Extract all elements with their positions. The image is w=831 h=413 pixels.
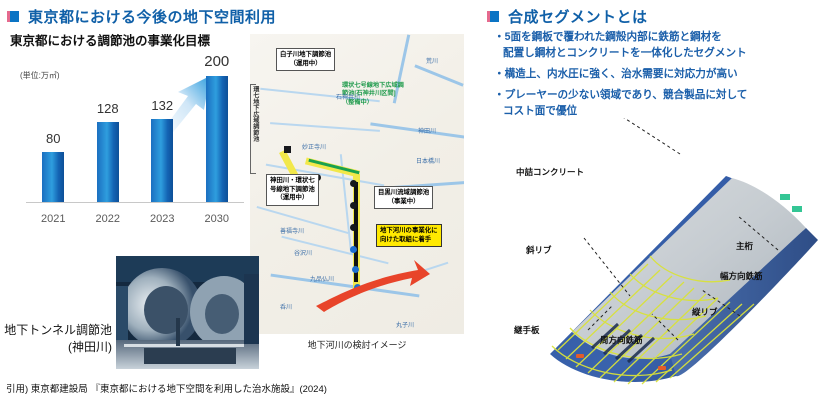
right-panel: 合成セグメントとは ・5面を鋼板で覆われた鋼殻内部に鉄筋と鋼材を 配置し鋼材とコ… [480, 0, 831, 408]
map-label-meguro: 目黒川流域調節池 （事業中） [374, 186, 433, 209]
river-text-myoshoji: 妙正寺川 [302, 142, 326, 151]
bar-2023 [151, 119, 173, 202]
segment-label-habakata: 幅方向鉄筋 [720, 270, 763, 282]
x-label-2030: 2030 [190, 213, 245, 225]
chart-axis-line [26, 202, 244, 203]
left-heading: 東京都における今後の地下空間利用 [8, 6, 276, 27]
river-text-arakawa: 荒川 [426, 56, 438, 65]
bullet-list: ・5面を鋼板で覆われた鋼殻内部に鉄筋と鋼材を 配置し鋼材とコンクリートを一体化し… [494, 30, 830, 124]
river-text-kuhonbutsu: 九品仏川 [310, 274, 334, 283]
x-label-2023: 2023 [135, 213, 190, 225]
photo-caption-line1: 地下トンネル調節池 [0, 322, 112, 339]
bar-slot-2022: 128 [81, 60, 136, 202]
river-text-shakujii: 石神井川 [336, 92, 360, 101]
bar-2021 [42, 152, 64, 202]
river-text-nomi: 丸子川 [396, 320, 414, 329]
chart-x-labels: 2021 2022 2023 2030 [26, 213, 244, 225]
map-label-yellow-note: 地下河川の事業化に 向けた取組に着手 [376, 224, 442, 247]
square-bullet-icon [8, 11, 19, 22]
x-label-2021: 2021 [26, 213, 81, 225]
right-heading: 合成セグメントとは [488, 6, 648, 27]
bar-2022 [97, 122, 119, 202]
bar-2030 [206, 76, 228, 202]
bar-value-2023: 132 [151, 98, 173, 113]
map-node-3 [350, 202, 357, 209]
segment-label-shuketa: 主桁 [736, 240, 753, 252]
map-label-vertical-bracket: 環七地下広域調節池 [251, 86, 258, 172]
map-node-2 [350, 180, 357, 187]
map-node-shirakogawa [284, 146, 291, 153]
bullet-1-line-1: ・5面を鋼板で覆われた鋼殻内部に鉄筋と鋼材を [494, 30, 830, 46]
bar-slot-2030: 200 [190, 60, 245, 202]
segment-label-tatederib: 縦リブ [692, 306, 718, 318]
river-text-zenpukuji: 善福寺川 [280, 226, 304, 235]
bullet-2-line-1: ・構造上、内水圧に強く、治水需要に対応力が高い [494, 67, 830, 83]
river-text-kandagawa: 神田川 [418, 126, 436, 135]
chart-title: 東京都における調節池の事業化目標 [10, 30, 210, 49]
photo-caption: 地下トンネル調節池 (神田川) [0, 322, 112, 357]
bar-value-2022: 128 [97, 101, 119, 116]
segment-3d-svg [480, 118, 831, 408]
river-text-nihonbashi: 日本橋川 [416, 156, 440, 165]
segment-label-nanamerib: 斜リブ [526, 244, 552, 256]
left-panel: 東京都における今後の地下空間利用 東京都における調節池の事業化目標 (単位:万㎥… [0, 0, 470, 408]
bar-value-2021: 80 [46, 131, 60, 146]
bullet-item-3: ・プレーヤーの少ない領域であり、競合製品に対して コスト面で優位 [494, 88, 830, 120]
map-node-blue-1 [350, 246, 357, 253]
segment-label-shuhoukou: 周方向鉄筋 [600, 334, 643, 346]
right-heading-text: 合成セグメントとは [508, 6, 648, 27]
source-citation: 引用) 東京都建設局 『東京都における地下空間を利用した治水施設』(2024) [6, 381, 327, 395]
map-caption: 地下河川の検討イメージ [250, 338, 464, 351]
segment-label-nakazume: 中詰コンクリート [516, 166, 584, 178]
bar-slot-2023: 132 [135, 60, 190, 202]
river-text-yazawa: 谷沢川 [294, 248, 312, 257]
bullet-item-2: ・構造上、内水圧に強く、治水需要に対応力が高い [494, 67, 830, 83]
bullet-3-line-1: ・プレーヤーの少ない領域であり、競合製品に対して [494, 88, 830, 104]
bar-chart: (単位:万㎥) 80 128 [8, 52, 248, 227]
x-label-2022: 2022 [81, 213, 136, 225]
bar-value-2030: 200 [204, 53, 229, 70]
bullet-item-1: ・5面を鋼板で覆われた鋼殻内部に鉄筋と鋼材を 配置し鋼材とコンクリートを一体化し… [494, 30, 830, 62]
chart-bars: 80 128 132 200 [26, 60, 244, 202]
left-heading-text: 東京都における今後の地下空間利用 [28, 6, 276, 27]
segment-label-tsugite: 継手板 [514, 324, 540, 336]
map-label-shirakogawa: 白子川地下調節池 （運用中） [276, 48, 335, 71]
bullet-1-line-2: 配置し鋼材とコンクリートを一体化したセグメント [494, 46, 830, 62]
map-node-4 [350, 224, 357, 231]
river-text-maruko: 呑川 [280, 302, 292, 311]
square-bullet-icon-right [488, 11, 499, 22]
red-arrow-icon [310, 254, 430, 314]
composite-segment-diagram: 中詰コンクリート 斜リブ 主桁 幅方向鉄筋 縦リブ 周方向鉄筋 継手板 [480, 118, 831, 408]
tokyo-underground-river-map: 環七地下広域調節池 白子川地下調節池 （運用中） 環状七号線地下広域調 節池[石… [250, 34, 464, 334]
tunnel-photo [116, 256, 259, 369]
bar-slot-2021: 80 [26, 60, 81, 202]
photo-caption-line2: (神田川) [0, 339, 112, 356]
map-label-kandagawa: 神田川・環状七 号線地下調節池 （運用中） [266, 174, 319, 206]
